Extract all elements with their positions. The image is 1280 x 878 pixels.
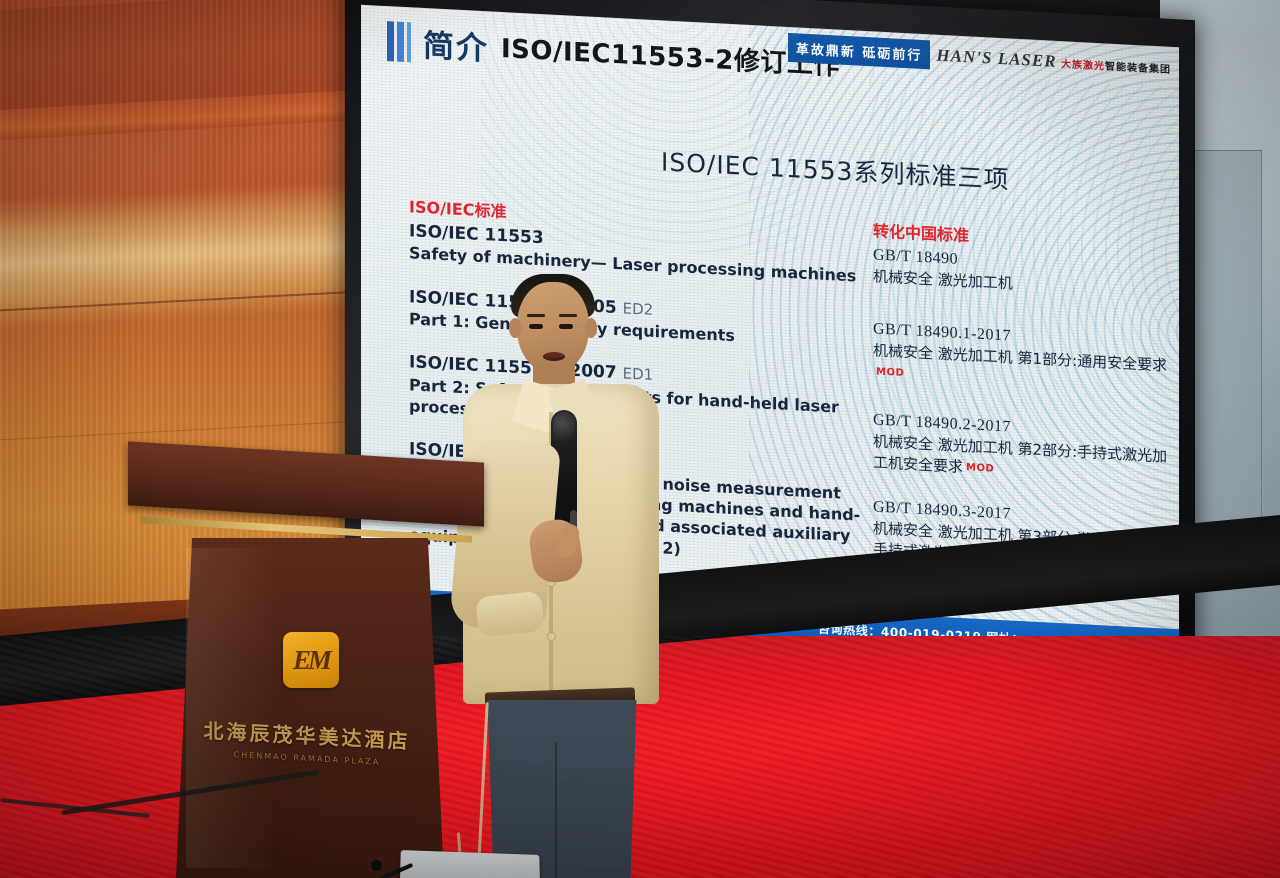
relation-badge: MOD — [876, 367, 904, 379]
header-bars-icon — [387, 21, 411, 62]
hotel-emblem-icon: EM — [283, 632, 339, 688]
slide-section-label: 简介 — [423, 20, 489, 68]
trouser-seam — [555, 742, 557, 878]
lectern-top — [128, 441, 484, 526]
hotel-emblem-monogram: EM — [293, 645, 329, 676]
presenter-eyebrow — [527, 314, 545, 317]
logo-brand-en: HAN'S LASER — [936, 45, 1056, 70]
relation-badge: MOD — [966, 463, 994, 475]
presenter-mouth — [543, 352, 565, 361]
presenter-ear — [509, 318, 521, 338]
presenter — [455, 272, 665, 878]
presenter-eyebrow — [559, 314, 577, 317]
laptop[interactable]: HUAWEI — [399, 850, 541, 878]
lectern: EM 北海辰茂华美达酒店 CHENMAO RAMADA PLAZA HUAWEI — [128, 452, 484, 878]
conference-room-photo: 简介 ISO/IEC11553-2修订工作 革故鼎新 砥砺前行 HAN'S LA… — [0, 0, 1280, 878]
logo-brand-cn: 大族激光智能装备集团 — [1061, 59, 1171, 76]
gooseneck-microphone-head — [371, 860, 382, 871]
presenter-trousers — [481, 700, 643, 878]
hotel-name-cn: 北海辰茂华美达酒店 — [204, 719, 411, 754]
gb-standard-entry: GB/T 18490.1-2017 机械安全 激光加工机 第1部分:通用安全要求… — [873, 318, 1173, 399]
lectern-sheen — [186, 548, 276, 868]
presenter-shirt-button — [547, 632, 556, 641]
microphone-grille — [553, 412, 575, 448]
presenter-eye — [559, 324, 573, 329]
presenter-ear — [585, 318, 597, 338]
presenter-cuff — [475, 591, 545, 638]
presenter-eye — [529, 324, 543, 329]
gb-standard-entry: GB/T 18490.2-2017 机械安全 激光加工机 第2部分:手持式激光加… — [873, 409, 1173, 490]
